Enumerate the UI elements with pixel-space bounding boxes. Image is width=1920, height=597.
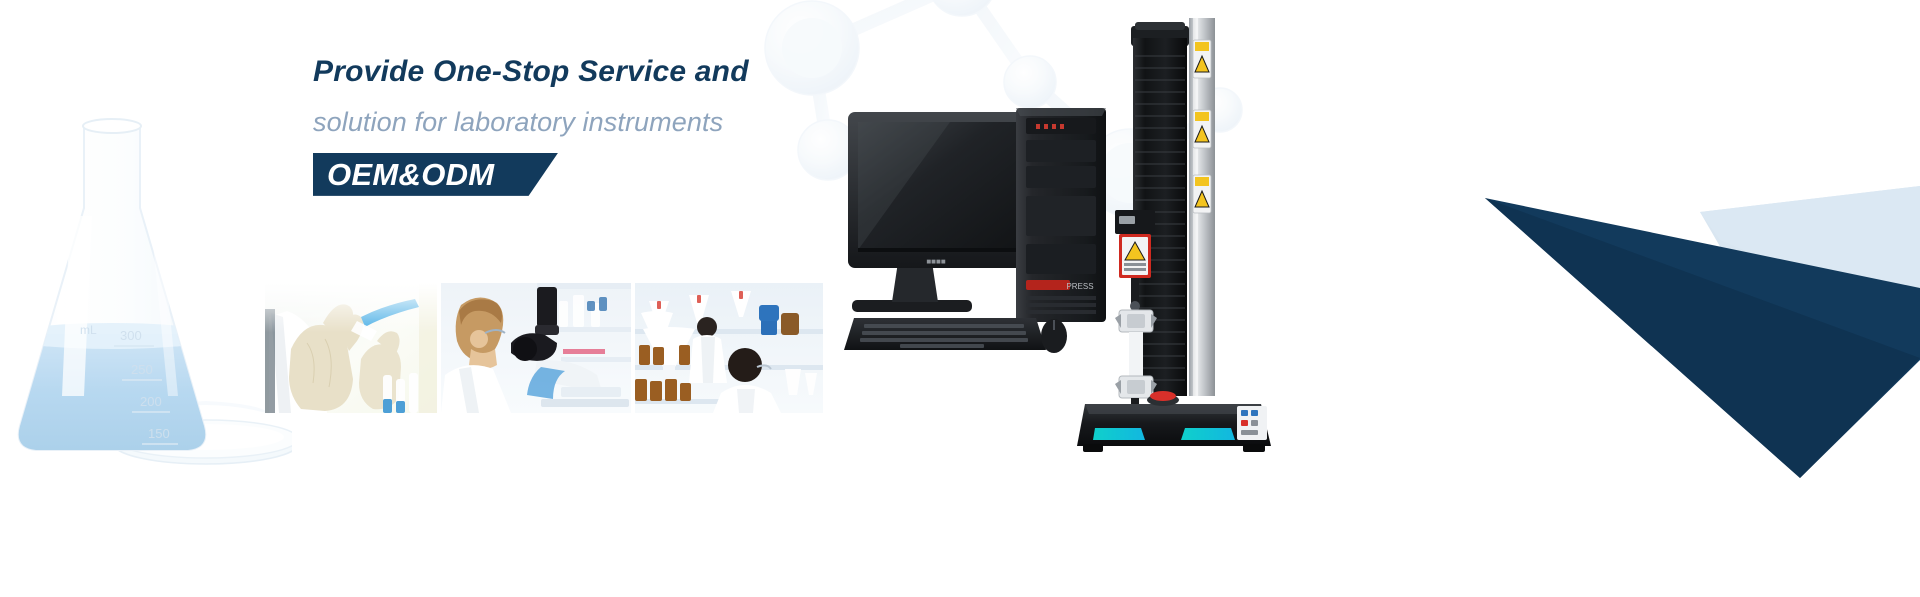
hero-banner: 300 250 200 150 mL Provide One-Stop Serv… bbox=[0, 0, 1920, 597]
photo-microscope-researcher bbox=[441, 283, 631, 413]
photo-lab-technicians bbox=[635, 283, 823, 413]
erlenmeyer-flask: 300 250 200 150 mL bbox=[2, 119, 232, 464]
light-blue-arrow-shape bbox=[1700, 186, 1920, 350]
flask-graduation-300: 300 bbox=[120, 328, 142, 343]
keyboard bbox=[844, 318, 1046, 350]
machine-base bbox=[1077, 391, 1271, 452]
monitor-brand: ■■■■ bbox=[926, 257, 945, 266]
lab-photo-strip bbox=[265, 283, 823, 413]
light-blue-arrow-shape-2 bbox=[1700, 186, 1920, 325]
base-accent-light-left bbox=[1093, 428, 1145, 440]
oem-odm-badge: OEM&ODM bbox=[313, 153, 563, 197]
universal-testing-machine bbox=[1075, 10, 1315, 460]
flask-graduation-150: 150 bbox=[148, 426, 170, 441]
glassware-group: 300 250 200 150 mL bbox=[0, 96, 292, 516]
emergency-stop-button[interactable] bbox=[1150, 391, 1176, 401]
mouse bbox=[1041, 319, 1067, 353]
desktop-monitor: ■■■■ bbox=[848, 112, 1040, 312]
warning-labels bbox=[1193, 40, 1211, 213]
flask-unit: mL bbox=[80, 323, 97, 337]
photo-pipetting-test-tubes bbox=[265, 283, 437, 413]
navy-arrow-shape-2 bbox=[1485, 198, 1920, 478]
crosshead bbox=[1115, 210, 1155, 278]
badge-label: OEM&ODM bbox=[327, 153, 494, 196]
flask-graduation-200: 200 bbox=[140, 394, 162, 409]
navy-arrow-shape bbox=[1485, 198, 1920, 478]
flask-graduation-250: 250 bbox=[131, 362, 153, 377]
base-accent-light-right bbox=[1181, 428, 1235, 440]
